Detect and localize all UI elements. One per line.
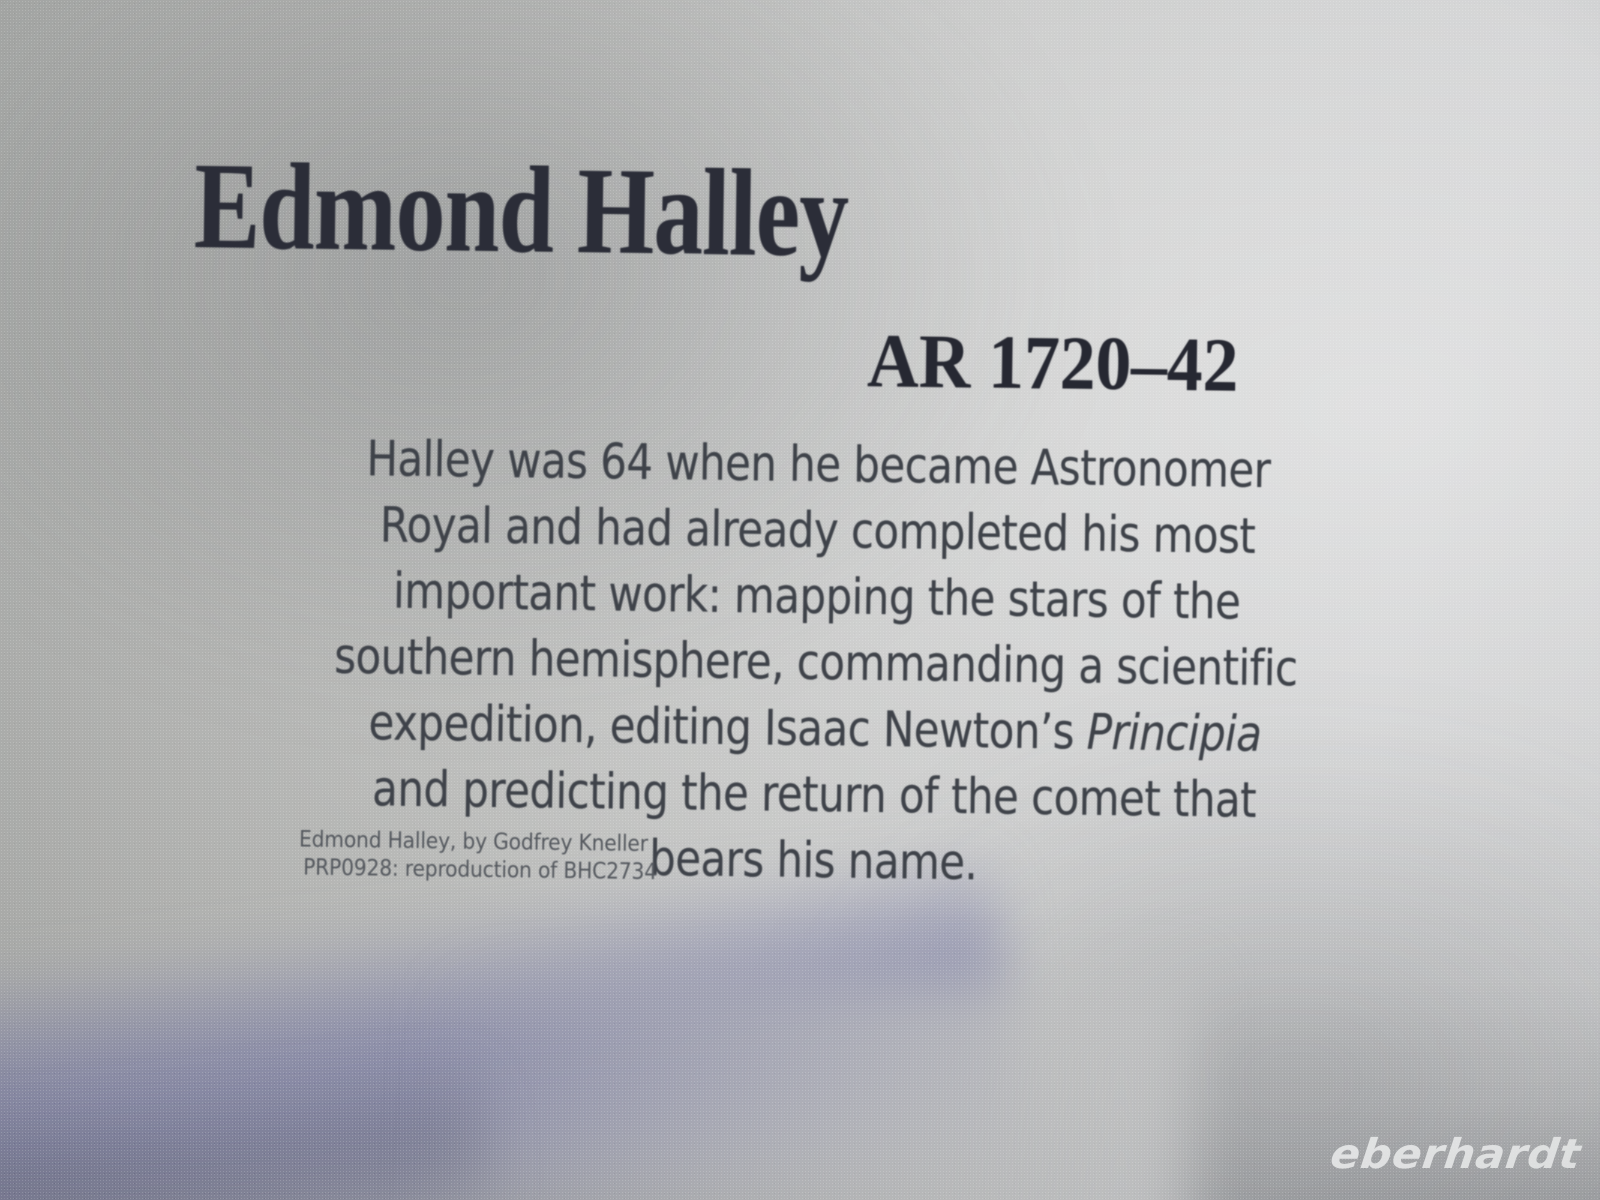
photograph-of-exhibit-label: Edmond Halley AR 1720–42 Halley was 64 w…	[0, 0, 1600, 1200]
photographer-watermark: eberhardt	[1328, 1130, 1584, 1178]
page-title: Edmond Halley	[194, 144, 1060, 279]
image-credit-caption: Edmond Halley, by Godfrey Kneller PRP092…	[298, 825, 657, 886]
body-line-6: and predicting the return of the comet t…	[294, 755, 1334, 835]
caption-line-reference: PRP0928: reproduction of BHC2734	[298, 853, 657, 886]
principia-title: Principia	[1086, 704, 1261, 763]
label-text-block: Edmond Halley AR 1720–42 Halley was 64 w…	[0, 0, 1600, 1200]
body-line-5-text: expedition, editing Isaac Newton’s	[368, 694, 1087, 760]
label-subtitle: AR 1720–42	[867, 323, 1239, 404]
